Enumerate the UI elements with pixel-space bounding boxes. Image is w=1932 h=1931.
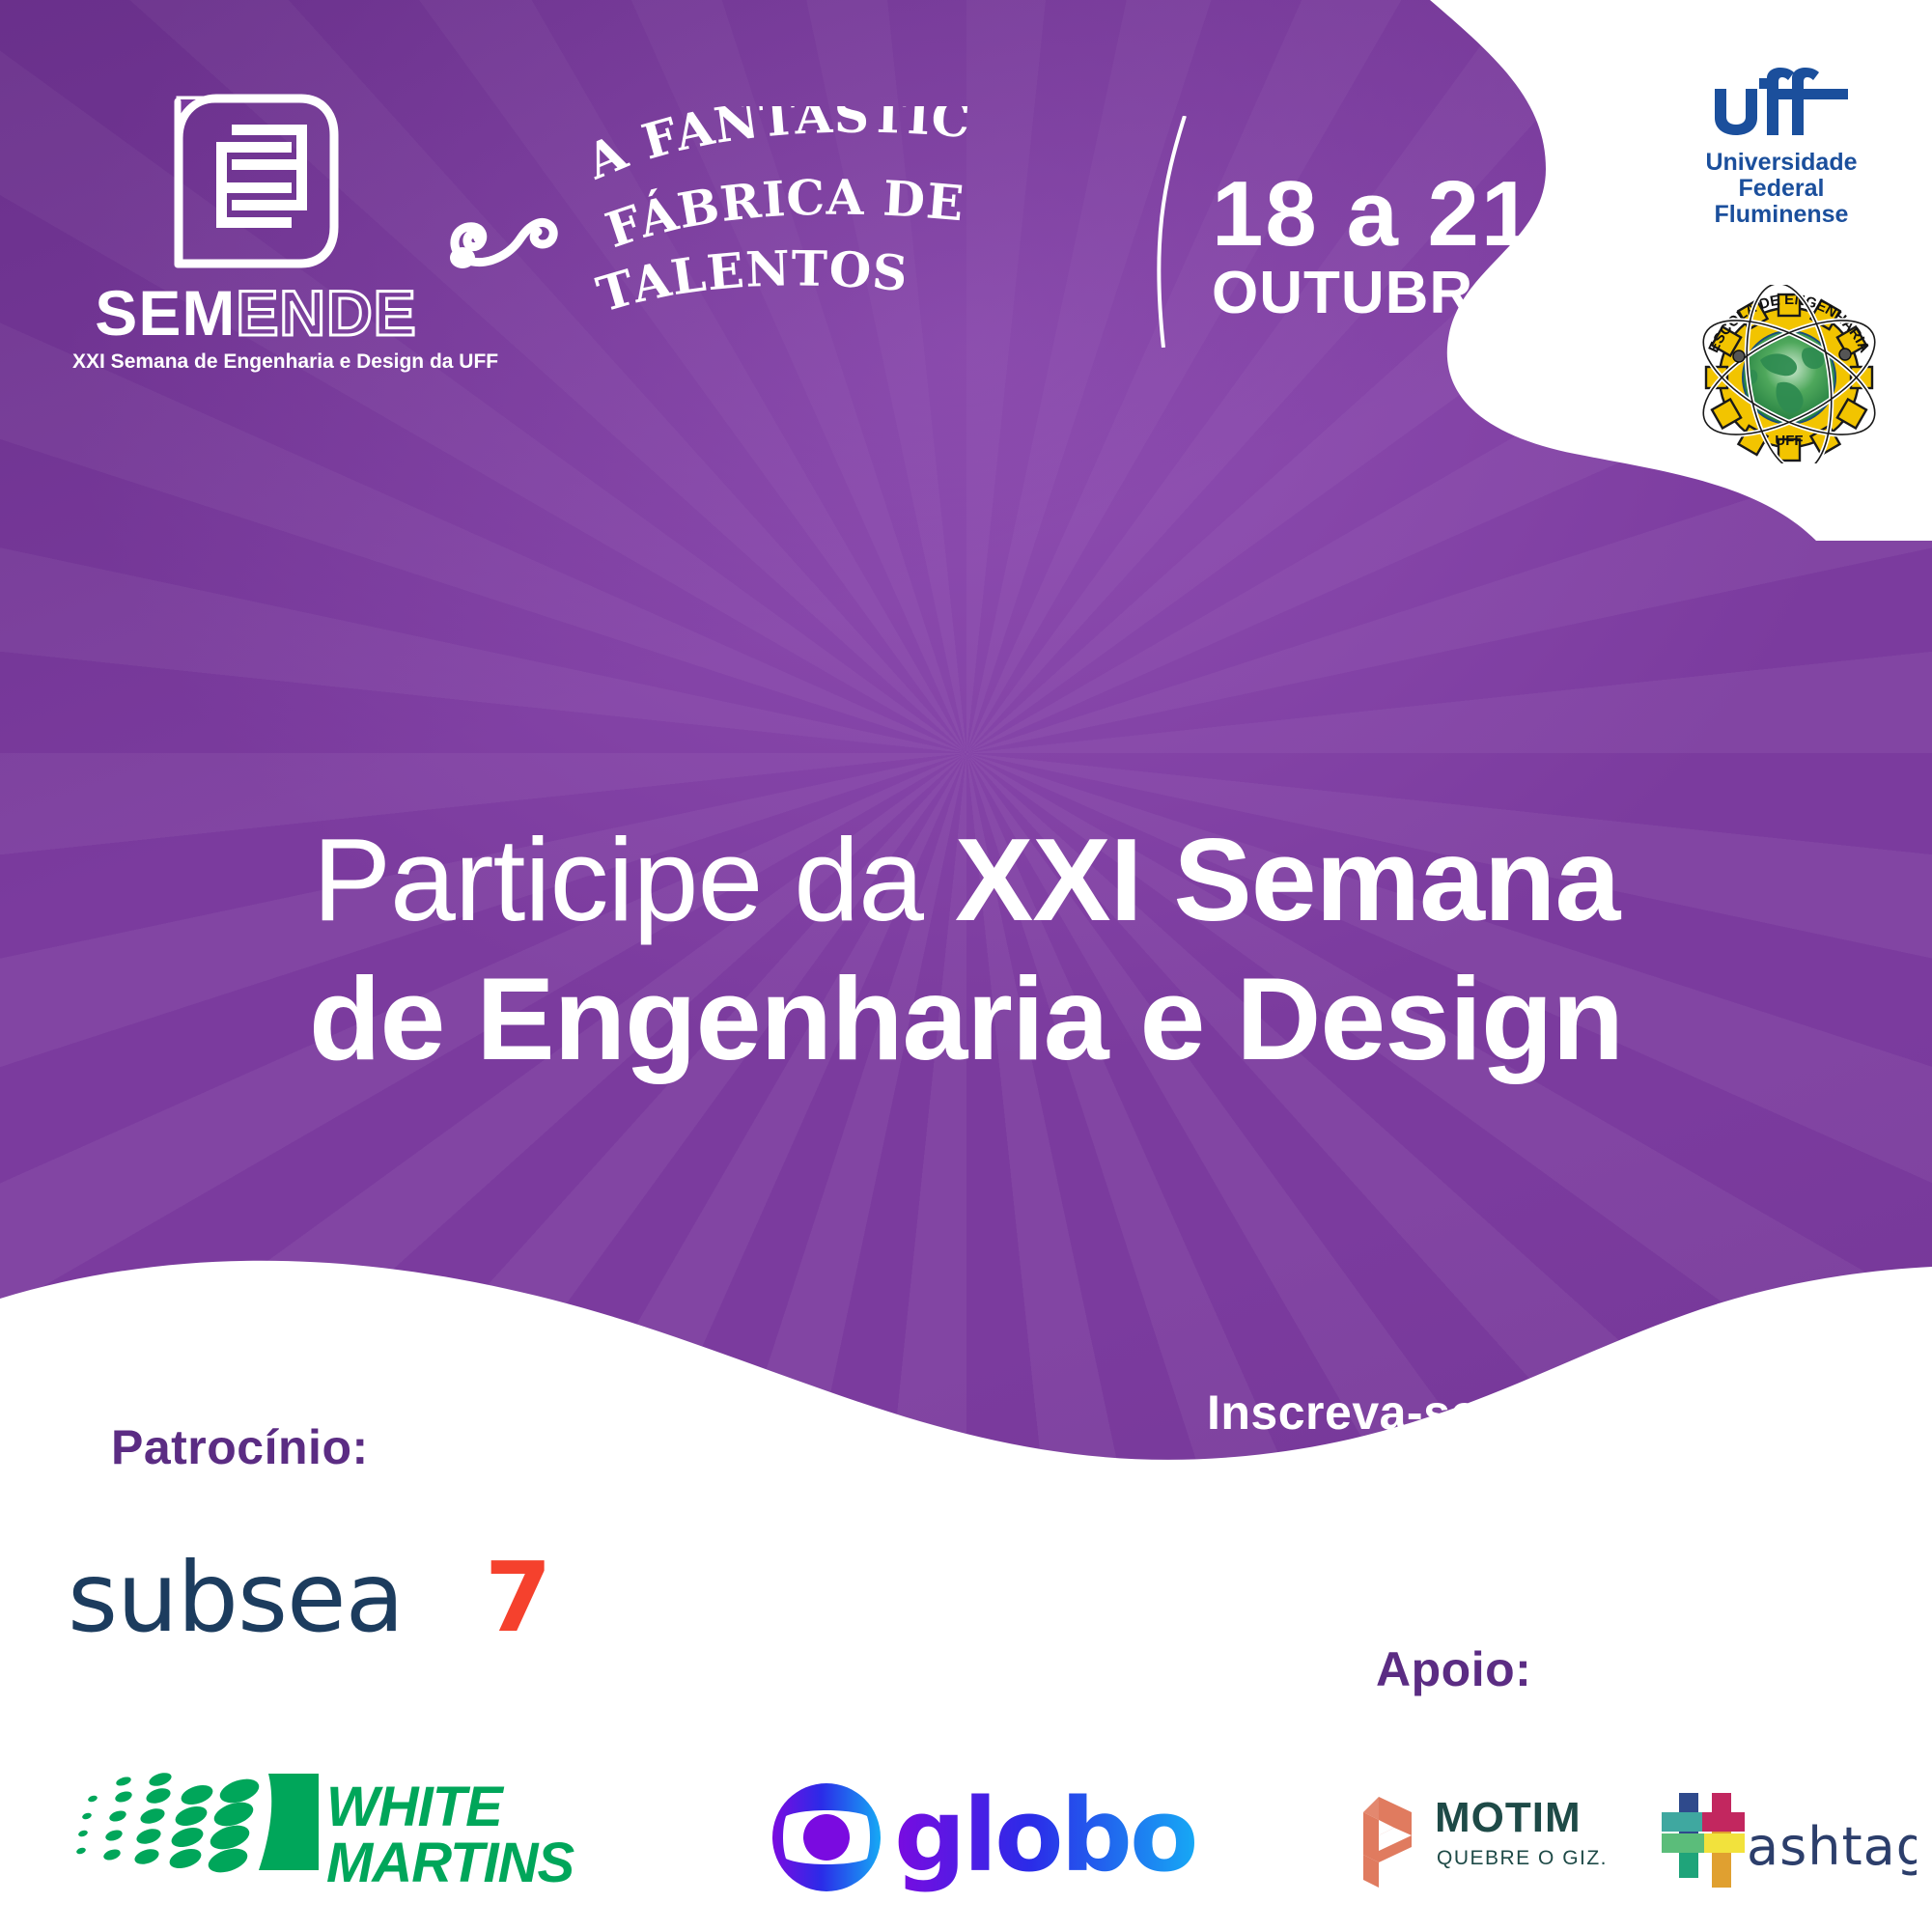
subsea-numeral: 7 [485, 1550, 552, 1654]
seal-bottom-text: UFF [1775, 433, 1803, 449]
uff-name: Universidade Federal Fluminense [1670, 150, 1892, 228]
motim-slogan: QUEBRE O GIZ. [1437, 1847, 1608, 1869]
sponsors-label: Patrocínio: [111, 1419, 369, 1475]
hashtag-wordmark: ashtag [1747, 1816, 1917, 1877]
wordmark-sem: SEM [95, 277, 236, 349]
wordmark-ende: ENDE [236, 277, 416, 349]
motim-mark-icon [1363, 1797, 1412, 1888]
motim-wordmark: MOTIM [1435, 1794, 1582, 1841]
uff-name-line2: Federal [1670, 176, 1892, 202]
globo-eye-icon [772, 1783, 881, 1891]
headline-bold: XXI Semana [955, 814, 1619, 945]
semende-wordmark: SEMENDE [72, 281, 439, 345]
registration-url[interactable]: bit.ly/SEMENDE21 [1207, 1451, 1709, 1509]
theme-title-line3: TALENTOS [591, 239, 910, 323]
white-martins-logo-icon: WHITE MARTINS [68, 1772, 647, 1902]
globo-logo-icon: globo [772, 1781, 1246, 1902]
headline-light: Participe da [313, 814, 955, 945]
subsea7-logo-icon: subsea 7 [68, 1550, 647, 1656]
ornament-flourish-icon [449, 179, 565, 285]
event-date-block: 18 a 21 OUTUBRO [1212, 169, 1534, 323]
event-date-month: OUTUBRO [1212, 264, 1534, 323]
white-martins-line2: MARTINS [326, 1832, 574, 1894]
curved-divider [1134, 116, 1202, 348]
semende-document-icon [172, 92, 341, 270]
supporters-label: Apoio: [1376, 1641, 1531, 1697]
escola-de-engenharia-seal-icon: ESCOLA DE ENGENHARIA UFF [1685, 285, 1892, 463]
motim-logo-icon: MOTIM QUEBRE O GIZ. [1352, 1791, 1622, 1897]
semende-logo-block: SEMENDE XXI Semana de Engenharia e Desig… [72, 92, 439, 374]
headline-line-1: Participe da XXI Semana [0, 811, 1932, 950]
svg-text:TALENTOS: TALENTOS [591, 239, 910, 323]
theme-title-block: A FANTÁSTICA FÁBRICA DE TALENTOS [579, 106, 1081, 328]
hashtag-logo-icon: ashtag [1656, 1791, 1917, 1897]
white-martins-line1: WHITE [326, 1776, 505, 1838]
semende-tagline: XXI Semana de Engenharia e Design da UFF [72, 350, 439, 374]
uff-logo-block: Universidade Federal Fluminense [1670, 68, 1892, 228]
registration-title: Inscreva-se pelo link: [1207, 1385, 1709, 1441]
page-title: Participe da XXI Semana de Engenharia e … [0, 811, 1932, 1089]
event-date-range: 18 a 21 [1212, 169, 1534, 260]
uff-logo-icon [1709, 68, 1854, 137]
subsea-wordmark: subsea [68, 1550, 404, 1654]
registration-block[interactable]: Inscreva-se pelo link: bit.ly/SEMENDE21 [1207, 1385, 1709, 1509]
poster-canvas: SEMENDE XXI Semana de Engenharia e Desig… [0, 0, 1932, 1931]
uff-name-line3: Fluminense [1670, 202, 1892, 228]
headline-line-2: de Engenharia e Design [0, 950, 1932, 1089]
uff-name-line1: Universidade [1670, 150, 1892, 176]
globo-wordmark: globo [894, 1781, 1195, 1894]
hashtag-mark-icon [1662, 1793, 1745, 1888]
theme-title-text: A FANTÁSTICA FÁBRICA DE TALENTOS [579, 106, 1081, 328]
